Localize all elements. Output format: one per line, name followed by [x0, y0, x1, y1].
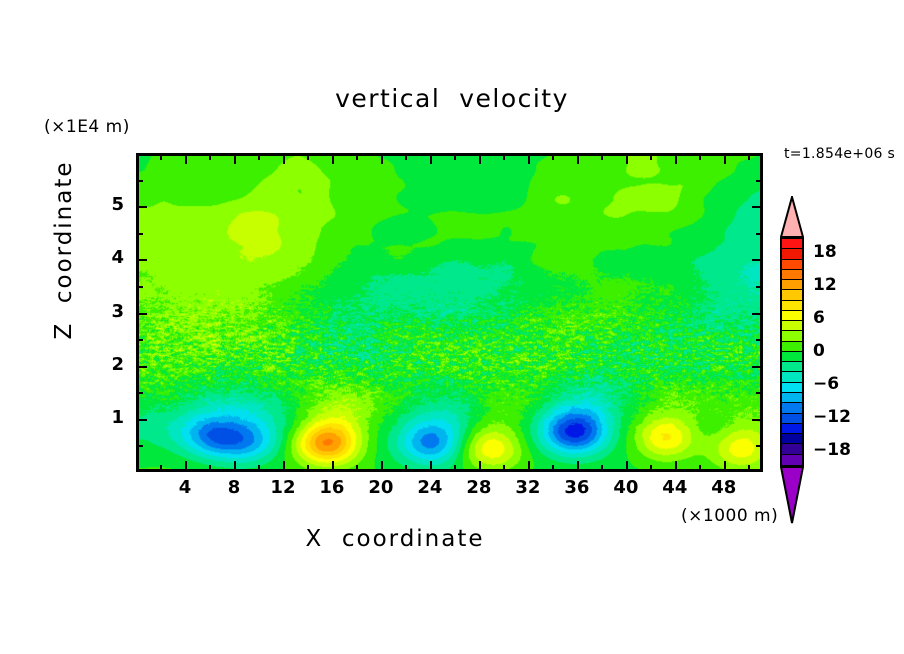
x-axis-tick — [724, 461, 726, 472]
colorbar-band — [782, 424, 802, 434]
page-title: vertical velocity — [0, 84, 904, 113]
colorbar-tick-label: 6 — [813, 308, 825, 328]
x-axis-tick — [552, 465, 554, 472]
y-axis-tick — [756, 286, 763, 288]
y-axis-tick — [136, 206, 147, 208]
y-axis-label: Z coordinate — [51, 150, 77, 350]
colorbar-band — [782, 444, 802, 454]
colorbar-band — [782, 342, 802, 352]
x-axis-tick — [601, 465, 603, 472]
x-axis-tick-label: 32 — [508, 477, 548, 498]
x-axis-tick — [405, 153, 407, 160]
colorbar-band — [782, 280, 802, 290]
y-axis-tick — [136, 339, 143, 341]
x-axis-tick-label: 4 — [165, 477, 205, 498]
x-axis-tick — [332, 461, 334, 472]
colorbar-band — [782, 321, 802, 331]
colorbar-band — [782, 393, 802, 403]
x-axis-tick — [381, 461, 383, 472]
colorbar-band — [782, 372, 802, 382]
colorbar-band — [782, 301, 802, 311]
x-axis-tick — [356, 465, 358, 472]
x-axis-tick — [577, 153, 579, 164]
x-axis-units: (×1000 m) — [681, 506, 778, 526]
timestamp-annotation: t=1.854e+06 s — [784, 146, 895, 162]
colorbar-band — [782, 290, 802, 300]
x-axis-tick — [552, 153, 554, 160]
x-axis-tick — [626, 153, 628, 164]
x-axis-tick — [160, 465, 162, 472]
colorbar-band — [782, 311, 802, 321]
x-axis-tick — [234, 153, 236, 164]
x-axis-tick — [601, 153, 603, 160]
colorbar-tick-label: −6 — [813, 374, 839, 394]
y-axis-tick — [756, 339, 763, 341]
x-axis-tick-label: 8 — [214, 477, 254, 498]
x-axis-tick — [209, 153, 211, 160]
y-axis-tick — [756, 233, 763, 235]
x-axis-tick — [430, 153, 432, 164]
y-axis-tick — [136, 313, 147, 315]
x-axis-tick — [283, 461, 285, 472]
y-axis-tick — [752, 419, 763, 421]
x-axis-tick — [479, 153, 481, 164]
x-axis-tick — [650, 153, 652, 160]
x-axis-tick — [503, 465, 505, 472]
colorbar-band — [782, 362, 802, 372]
x-axis-tick — [577, 461, 579, 472]
x-axis-tick — [675, 153, 677, 164]
plot-area — [136, 153, 763, 472]
y-axis-tick — [756, 392, 763, 394]
y-axis-tick — [136, 392, 143, 394]
x-axis-tick — [234, 461, 236, 472]
x-axis-tick — [650, 465, 652, 472]
colorbar-band — [782, 403, 802, 413]
colorbar-bottom-arrow-icon — [780, 466, 804, 524]
figure-root: vertical velocity (×1E4 m) (×1000 m) X c… — [0, 0, 904, 654]
colorbar-band — [782, 249, 802, 259]
y-axis-tick — [136, 259, 147, 261]
x-axis-tick — [209, 465, 211, 472]
y-axis-tick — [136, 419, 147, 421]
colorbar: 181260−6−12−18 — [777, 196, 811, 526]
x-axis-tick — [748, 465, 750, 472]
x-axis-tick — [185, 461, 187, 472]
vertical-velocity-contour-field — [139, 156, 760, 469]
colorbar-band — [782, 352, 802, 362]
x-axis-tick-label: 28 — [459, 477, 499, 498]
colorbar-tick-label: 0 — [813, 341, 825, 361]
x-axis-tick — [405, 465, 407, 472]
x-axis-tick-label: 44 — [655, 477, 695, 498]
y-axis-tick-label: 2 — [84, 354, 124, 375]
colorbar-band — [782, 270, 802, 280]
x-axis-tick — [454, 465, 456, 472]
y-axis-tick — [136, 445, 143, 447]
colorbar-band — [782, 239, 802, 249]
x-axis-tick — [748, 153, 750, 160]
colorbar-band — [782, 455, 802, 465]
x-axis-label: X coordinate — [0, 526, 790, 552]
x-axis-tick — [479, 461, 481, 472]
x-axis-tick — [430, 461, 432, 472]
x-axis-tick — [258, 153, 260, 160]
colorbar-band — [782, 383, 802, 393]
y-axis-tick — [136, 366, 147, 368]
y-axis-units: (×1E4 m) — [44, 117, 130, 137]
colorbar-tick-label: 12 — [813, 275, 837, 295]
colorbar-gradient — [780, 237, 804, 467]
x-axis-tick-label: 36 — [557, 477, 597, 498]
colorbar-band — [782, 434, 802, 444]
y-axis-tick — [752, 259, 763, 261]
x-axis-tick — [332, 153, 334, 164]
x-axis-tick — [185, 153, 187, 164]
colorbar-tick-label: 18 — [813, 242, 837, 262]
y-axis-tick-label: 4 — [84, 247, 124, 268]
x-axis-tick — [724, 153, 726, 164]
colorbar-band — [782, 331, 802, 341]
y-axis-tick — [752, 206, 763, 208]
x-axis-tick — [160, 153, 162, 160]
y-axis-tick — [756, 445, 763, 447]
colorbar-tick-label: −18 — [813, 440, 851, 460]
y-axis-tick — [752, 366, 763, 368]
y-axis-tick-label: 1 — [84, 407, 124, 428]
x-axis-tick — [381, 153, 383, 164]
y-axis-tick-label: 3 — [84, 301, 124, 322]
colorbar-band — [782, 260, 802, 270]
x-axis-tick-label: 20 — [361, 477, 401, 498]
x-axis-tick — [699, 153, 701, 160]
x-axis-tick — [675, 461, 677, 472]
x-axis-tick — [699, 465, 701, 472]
y-axis-tick — [752, 313, 763, 315]
x-axis-tick — [356, 153, 358, 160]
x-axis-tick — [258, 465, 260, 472]
y-axis-tick — [756, 180, 763, 182]
colorbar-band — [782, 414, 802, 424]
x-axis-tick-label: 40 — [606, 477, 646, 498]
x-axis-tick — [503, 153, 505, 160]
x-axis-tick-label: 12 — [263, 477, 303, 498]
x-axis-tick — [528, 461, 530, 472]
colorbar-top-arrow-icon — [780, 196, 804, 238]
x-axis-tick — [528, 153, 530, 164]
x-axis-tick — [626, 461, 628, 472]
y-axis-tick — [136, 286, 143, 288]
x-axis-tick — [283, 153, 285, 164]
y-axis-tick-label: 5 — [84, 194, 124, 215]
x-axis-tick — [307, 465, 309, 472]
y-axis-tick — [136, 180, 143, 182]
x-axis-tick-label: 48 — [704, 477, 744, 498]
x-axis-tick — [454, 153, 456, 160]
colorbar-tick-label: −12 — [813, 407, 851, 427]
x-axis-tick — [307, 153, 309, 160]
y-axis-tick — [136, 233, 143, 235]
x-axis-tick-label: 24 — [410, 477, 450, 498]
x-axis-tick-label: 16 — [312, 477, 352, 498]
